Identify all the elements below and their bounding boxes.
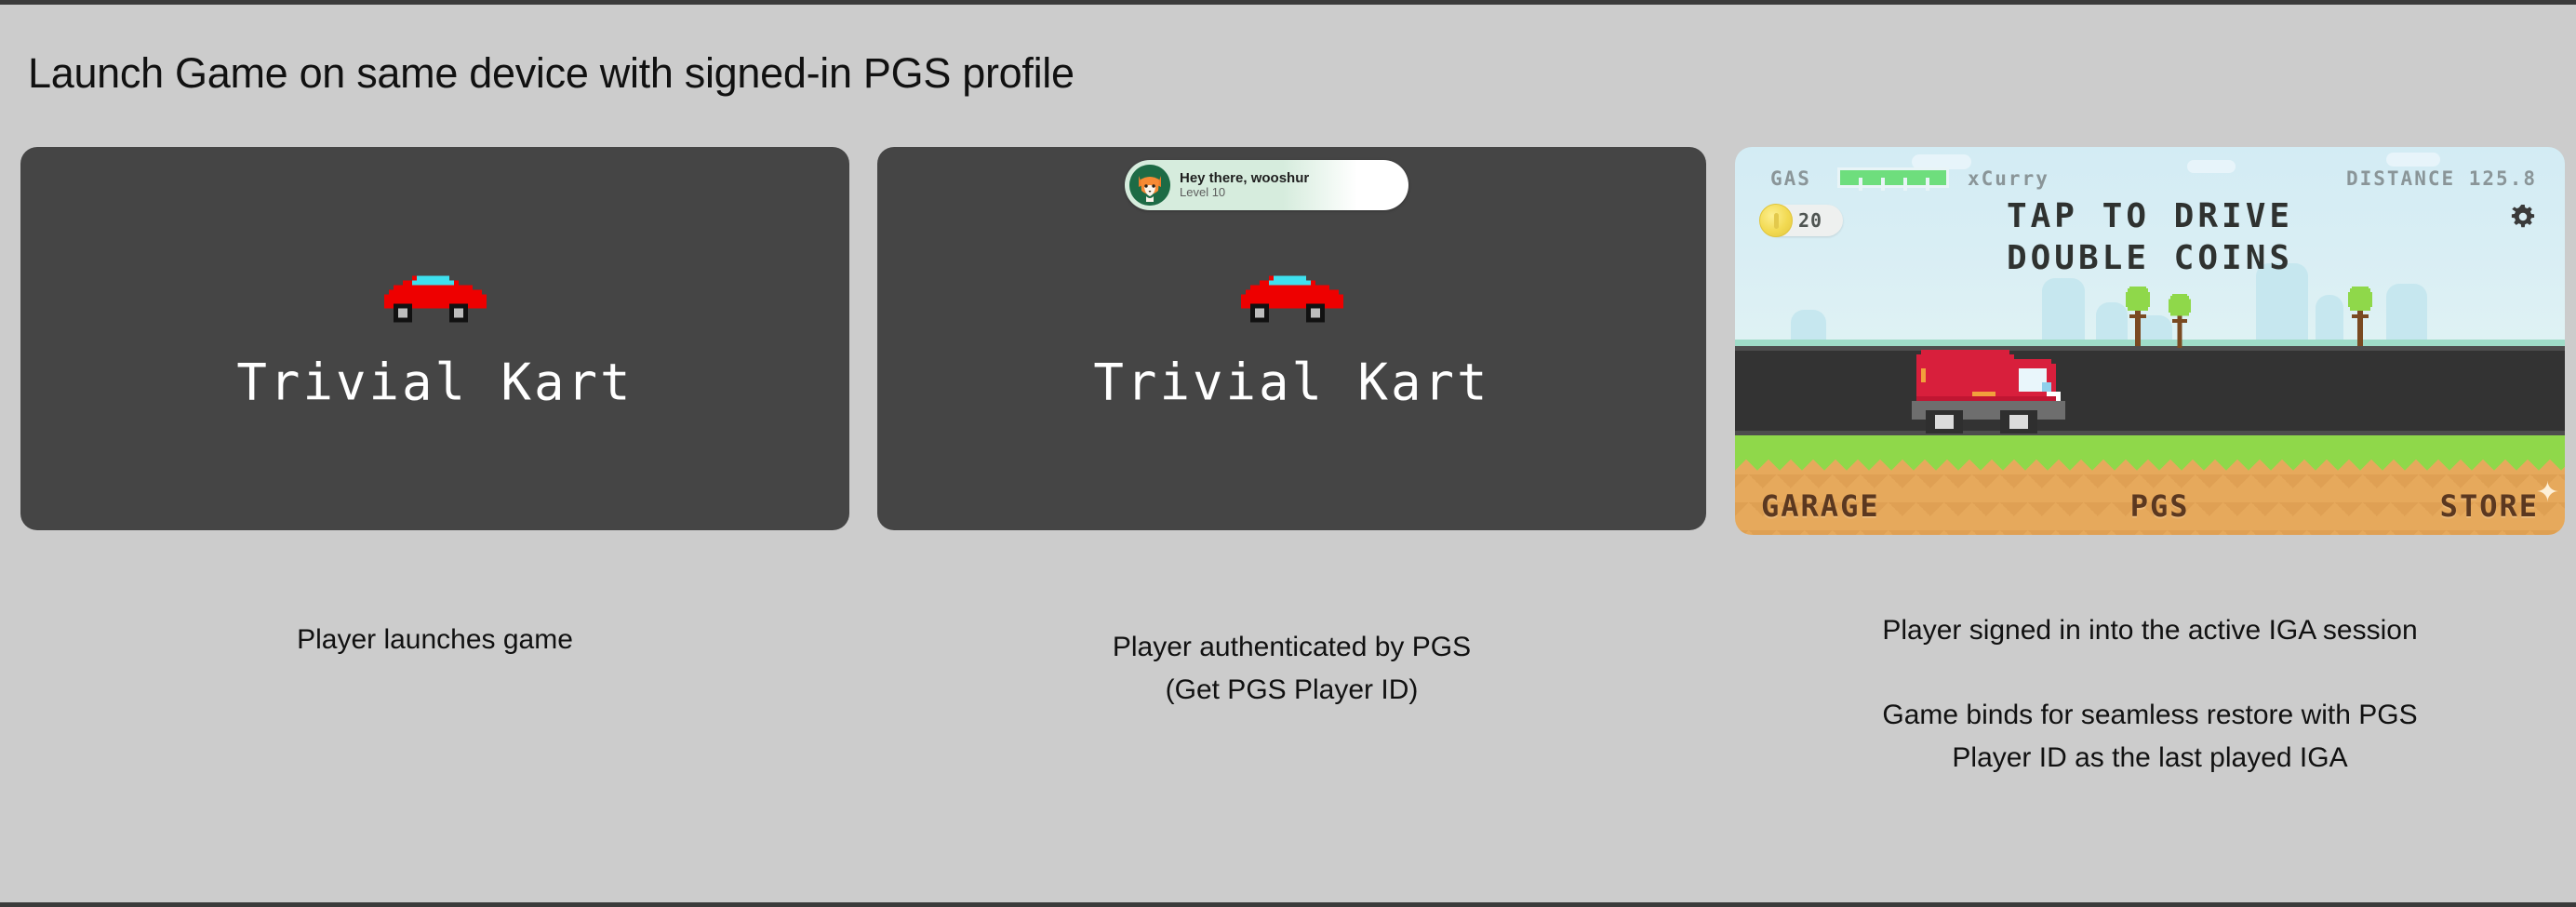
page-title: Launch Game on same device with signed-i… (28, 49, 1074, 98)
nav-pgs[interactable]: PGS (2130, 488, 2190, 524)
red-pixel-car-icon (1232, 266, 1353, 333)
coin-count: 20 (1798, 209, 1822, 232)
gear-icon[interactable] (2509, 203, 2537, 231)
game-splash-card-1: Trivial Kart (20, 147, 849, 530)
gas-meter (1837, 167, 1949, 188)
tree-icon (2344, 287, 2376, 346)
diagram-canvas: Launch Game on same device with signed-i… (0, 0, 2576, 907)
splash-content: Trivial Kart (877, 266, 1706, 412)
gas-label: GAS (1770, 167, 1811, 190)
toast-greeting: Hey there, wooshur (1180, 170, 1309, 186)
nav-store[interactable]: STORE (2440, 488, 2539, 524)
toast-level: Level 10 (1180, 186, 1309, 200)
game-splash-card-2: Trivial Kart Hey there, wooshur Lev (877, 147, 1706, 530)
player-username: xCurry (1968, 167, 2049, 190)
coin-badge: 20 (1763, 205, 1843, 236)
game-bottom-nav: GARAGE PGS STORE (1735, 488, 2565, 524)
sparkle-icon: ✦ (2536, 479, 2559, 507)
caption-panel-1: Player launches game (20, 619, 849, 661)
fox-avatar-icon (1129, 165, 1170, 206)
game-session-card: GAS xCurry DISTANCE 125.8 20 TAP TO DRIV… (1735, 147, 2565, 535)
caption-panel-2: Player authenticated by PGS (Get PGS Pla… (877, 626, 1706, 711)
coin-icon (1759, 204, 1793, 237)
game-road (1735, 346, 2565, 435)
splash-content: Trivial Kart (20, 266, 849, 412)
nav-garage[interactable]: GARAGE (1761, 488, 1880, 524)
caption-panel-3: Player signed in into the active IGA ses… (1735, 609, 2565, 779)
tree-icon (2165, 294, 2195, 348)
toast-text-block: Hey there, wooshur Level 10 (1180, 170, 1309, 200)
tree-icon (2122, 287, 2154, 346)
splash-game-title: Trivial Kart (236, 353, 633, 412)
red-pixel-truck-icon (1907, 340, 2084, 438)
splash-game-title: Trivial Kart (1093, 353, 1489, 412)
red-pixel-car-icon (375, 266, 496, 333)
pgs-welcome-toast[interactable]: Hey there, wooshur Level 10 (1125, 160, 1408, 210)
distance-readout: DISTANCE 125.8 (2346, 167, 2537, 190)
